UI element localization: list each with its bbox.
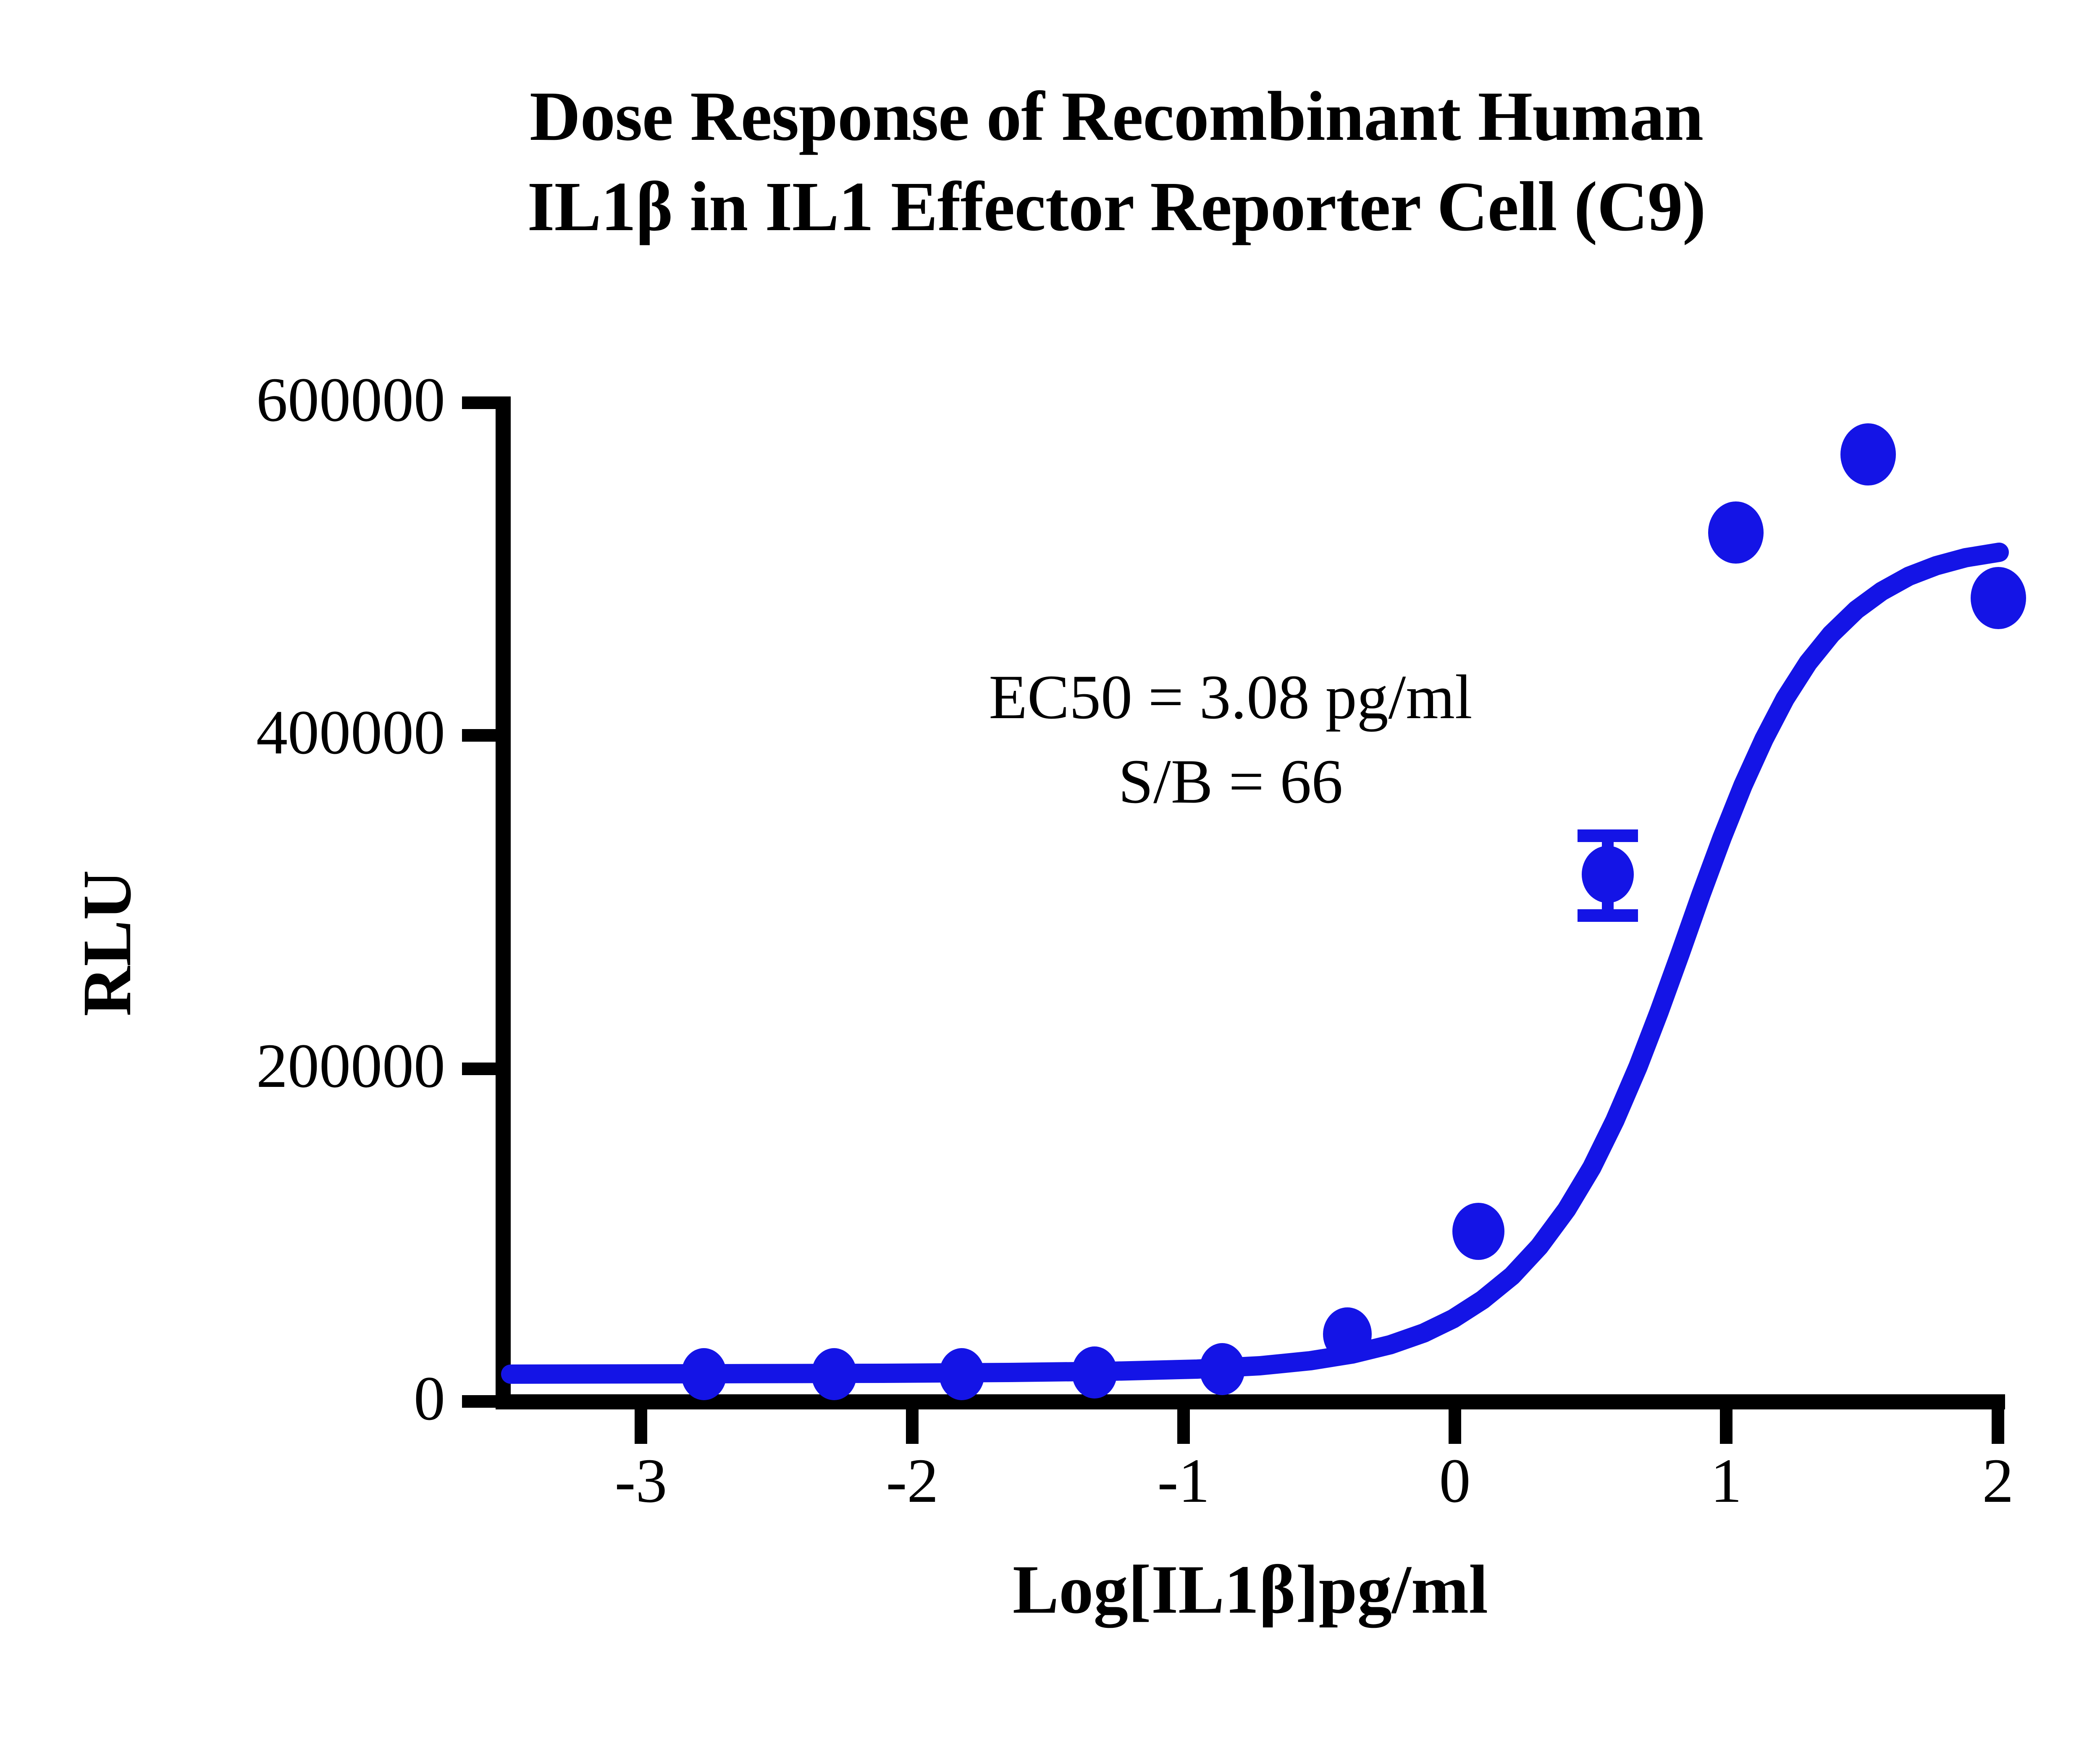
data-point (1582, 846, 1634, 903)
data-point (939, 1348, 984, 1400)
x-tick-mark--1 (1177, 1408, 1190, 1444)
x-tick-mark--2 (906, 1408, 919, 1444)
data-points (681, 423, 2026, 1400)
error-bar-cap-upper (1578, 829, 1638, 842)
y-tick-mark-400000 (462, 729, 497, 742)
data-point (1708, 501, 1764, 564)
stats-annotation: EC50 = 3.08 pg/ml S/B = 66 (861, 655, 1600, 824)
y-tick-mark-600000 (462, 396, 497, 409)
x-tick-label-2: 2 (1914, 1445, 2082, 1517)
data-point (1971, 567, 2026, 629)
x-tick-label-1: 1 (1642, 1445, 1810, 1517)
x-tick-mark--3 (635, 1408, 647, 1444)
y-axis-title: RLU (67, 870, 147, 1016)
x-tick-label--1: -1 (1100, 1445, 1268, 1517)
data-point (681, 1348, 727, 1400)
data-point (1840, 423, 1896, 485)
data-point (1200, 1343, 1245, 1395)
data-point (811, 1348, 857, 1400)
plot-area: 600000 400000 200000 0 -3 -2 -1 0 1 2 RL… (0, 0, 2100, 1737)
signal-background-annotation: S/B = 66 (861, 740, 1600, 824)
y-tick-mark-0 (462, 1395, 497, 1408)
y-axis-spine (496, 396, 511, 1408)
y-tick-label-0: 0 (84, 1362, 445, 1435)
x-tick-label-0: 0 (1371, 1445, 1539, 1517)
figure-root: Dose Response of Recombinant Human IL1β … (0, 0, 2100, 1737)
error-bar-cap-lower (1578, 909, 1638, 922)
x-tick-label--2: -2 (828, 1445, 996, 1517)
y-tick-label-600000: 600000 (84, 364, 445, 436)
x-tick-mark-1 (1720, 1408, 1732, 1444)
ec50-annotation: EC50 = 3.08 pg/ml (861, 655, 1600, 740)
x-axis-spine (496, 1394, 2005, 1409)
y-tick-mark-200000 (462, 1063, 497, 1075)
x-axis-title: Log[IL1β]pg/ml (496, 1550, 2005, 1629)
y-tick-label-400000: 400000 (84, 696, 445, 769)
y-tick-label-200000: 200000 (84, 1030, 445, 1102)
data-point (1323, 1307, 1372, 1361)
data-point (1072, 1346, 1117, 1399)
x-tick-mark-2 (1992, 1408, 2004, 1444)
x-tick-label--3: -3 (557, 1445, 725, 1517)
data-point (1452, 1203, 1504, 1260)
x-tick-mark-0 (1449, 1408, 1461, 1444)
